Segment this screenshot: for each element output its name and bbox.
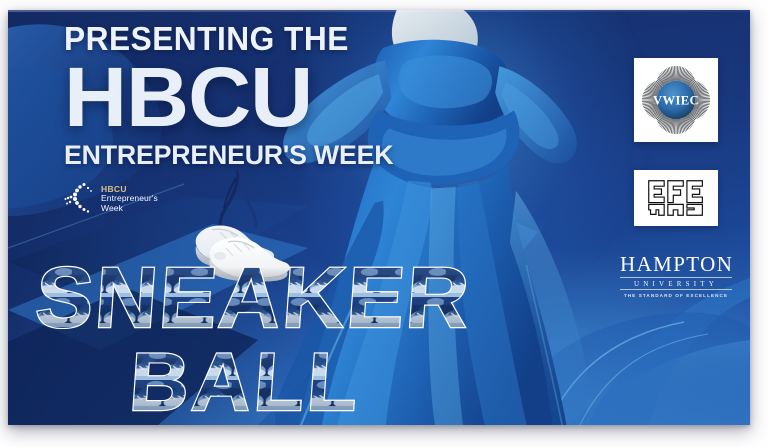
sponsor-logo-vwiec: VWIEC	[634, 58, 718, 142]
vwiec-label: VWIEC	[653, 93, 699, 107]
headline-hbcu: HBCU	[64, 57, 449, 138]
vwiec-sunburst-icon: VWIEC	[639, 63, 713, 137]
screenshot-canvas: PRESENTING THE HBCU ENTREPRENEUR'S WEEK	[0, 0, 768, 447]
logo-line-week: Week	[101, 204, 158, 214]
card-top-sheen	[8, 10, 750, 12]
sponsor-logo-stack: VWIEC	[620, 58, 732, 298]
word-art-sneaker: SNEAKER SNEAKER	[32, 253, 444, 348]
event-flyer-card: PRESENTING THE HBCU ENTREPRENEUR'S WEEK	[8, 10, 750, 425]
headline-entrepreneurs-week: ENTREPRENEUR'S WEEK	[64, 142, 430, 169]
word-art-ball: BALL BALL	[126, 340, 376, 425]
hampton-tagline: THE STANDARD OF EXCELLENCE	[620, 293, 732, 298]
sponsor-logo-hampton-university: HAMPTON UNIVERSITY THE STANDARD OF EXCEL…	[620, 254, 732, 298]
efe-monogram-icon	[646, 178, 706, 218]
dot-swoosh-icon	[64, 182, 94, 216]
headline-block: PRESENTING THE HBCU ENTREPRENEUR'S WEEK	[64, 22, 434, 169]
word-art-ball-shade: BALL	[127, 337, 364, 425]
logo-wordmark: HBCU Entrepreneur's Week	[101, 185, 158, 214]
hampton-name: HAMPTON	[620, 254, 732, 275]
hbcu-entrepreneurs-week-logo: HBCU Entrepreneur's Week	[64, 182, 158, 216]
sponsor-logo-efe	[634, 170, 718, 226]
word-art-sneaker-shade: SNEAKER	[33, 250, 474, 346]
hampton-university-word: UNIVERSITY	[620, 277, 732, 290]
